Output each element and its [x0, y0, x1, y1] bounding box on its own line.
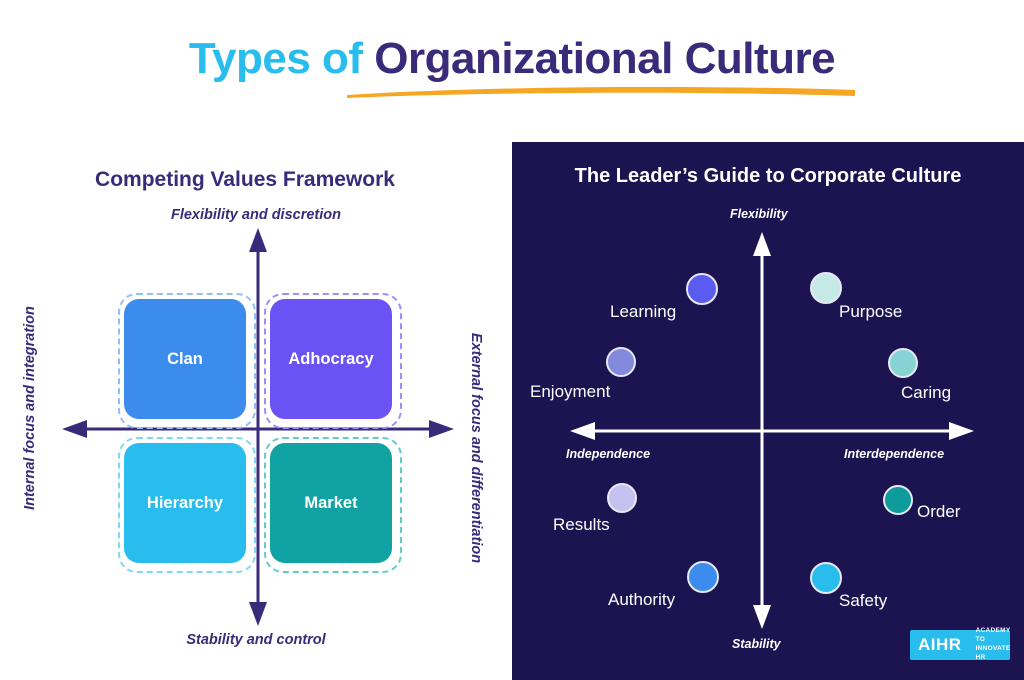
bubble-caring[interactable]: [888, 348, 918, 378]
lgc-axis-label-independence: Independence: [566, 447, 650, 461]
bubble-label-order: Order: [917, 502, 960, 522]
aihr-tagline-line1: ACADEMY TO: [976, 627, 1011, 643]
bubble-purpose[interactable]: [810, 272, 842, 304]
bubble-order[interactable]: [883, 485, 913, 515]
lgc-axis-label-interdependence: Interdependence: [844, 447, 944, 461]
bubble-label-caring: Caring: [901, 383, 951, 403]
quadrant-adhocracy[interactable]: Adhocracy: [270, 299, 392, 419]
page-title-part1: Types of: [189, 34, 374, 83]
lgc-axis-cross: [512, 142, 1024, 680]
bubble-safety[interactable]: [810, 562, 842, 594]
bubble-authority[interactable]: [687, 561, 719, 593]
bubble-label-safety: Safety: [839, 591, 887, 611]
page-title-part2: Organizational Culture: [374, 34, 835, 83]
bubble-enjoyment[interactable]: [606, 347, 636, 377]
quadrant-market[interactable]: Market: [270, 443, 392, 563]
quadrant-hierarchy[interactable]: Hierarchy: [124, 443, 246, 563]
aihr-tagline-line2: INNOVATE HR: [976, 645, 1011, 661]
bubble-label-results: Results: [553, 515, 610, 535]
competing-values-framework-panel: Competing Values Framework Flexibility a…: [0, 142, 512, 680]
bubble-results[interactable]: [607, 483, 637, 513]
cvf-axis-cross: [0, 142, 512, 680]
page-title: Types of Organizational Culture: [0, 34, 1024, 84]
bubble-label-purpose: Purpose: [839, 302, 902, 322]
lgc-axis-label-stability: Stability: [732, 637, 781, 651]
aihr-tagline: ACADEMY TO INNOVATE HR: [976, 627, 1011, 662]
bubble-learning[interactable]: [686, 273, 718, 305]
aihr-wordmark: AIHR: [910, 635, 962, 655]
bubble-label-enjoyment: Enjoyment: [530, 382, 610, 402]
bubble-label-learning: Learning: [610, 302, 676, 322]
leaders-guide-panel: The Leader’s Guide to Corporate Culture …: [512, 142, 1024, 680]
bubble-label-authority: Authority: [608, 590, 675, 610]
title-underline-swoosh: [345, 84, 857, 98]
aihr-logo[interactable]: AIHR ACADEMY TO INNOVATE HR: [910, 630, 1010, 660]
lgc-axis-label-flexibility: Flexibility: [730, 207, 788, 221]
quadrant-clan[interactable]: Clan: [124, 299, 246, 419]
